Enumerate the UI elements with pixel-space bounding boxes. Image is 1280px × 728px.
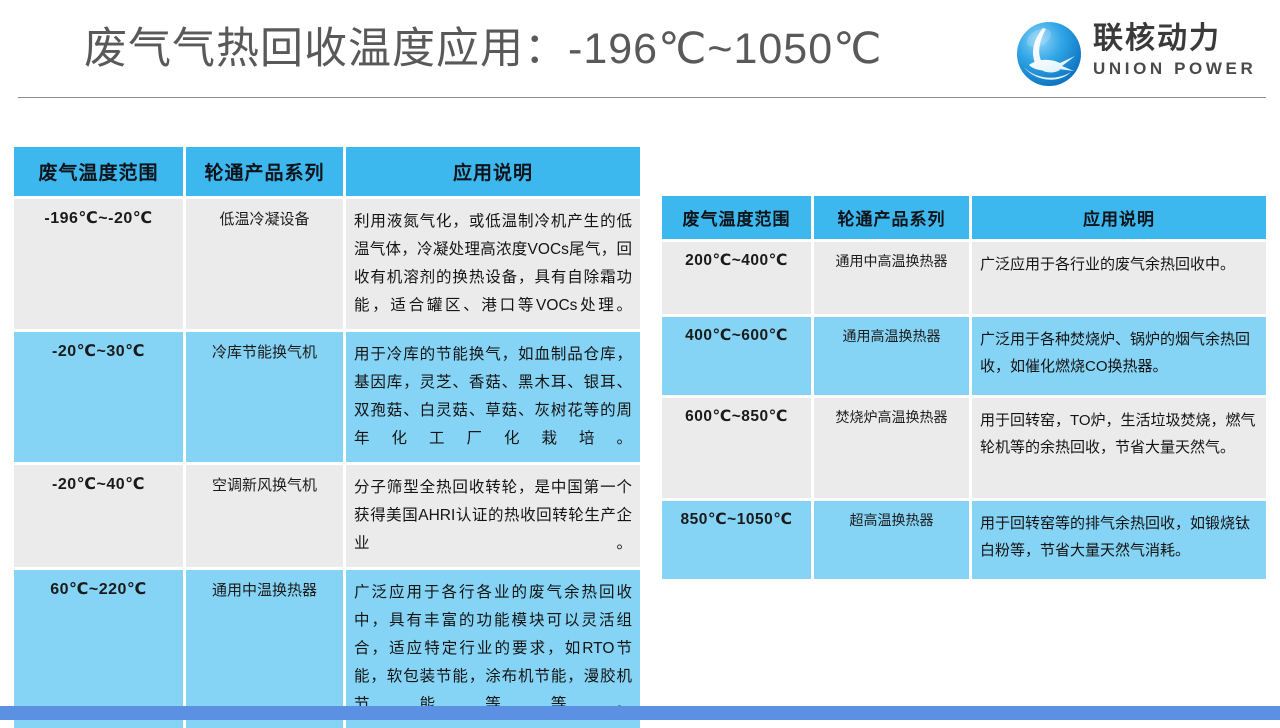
cell-temperature-range: 200℃~400℃: [662, 242, 814, 314]
cell-application-note: 利用液氮气化，或低温制冷机产生的低温气体，冷凝处理高浓度VOCs尾气，回收有机溶…: [346, 199, 640, 329]
column-header-application-note: 应用说明: [972, 196, 1266, 239]
cell-application-note: 广泛用于各种焚烧炉、锅炉的烟气余热回收，如催化燃烧CO换热器。: [972, 317, 1266, 395]
table-row: -196℃~-20℃ 低温冷凝设备 利用液氮气化，或低温制冷机产生的低温气体，冷…: [14, 196, 640, 329]
cell-product-series: 空调新风换气机: [186, 465, 346, 567]
table-row: 200℃~400℃ 通用中高温换热器 广泛应用于各行业的废气余热回收中。: [662, 239, 1266, 314]
temperature-application-table-right: 废气温度范围 轮通产品系列 应用说明 200℃~400℃ 通用中高温换热器 广泛…: [662, 196, 1266, 579]
cell-product-series: 低温冷凝设备: [186, 199, 346, 329]
table-row: -20℃~30℃ 冷库节能换气机 用于冷库的节能换气，如血制品仓库，基因库，灵芝…: [14, 329, 640, 462]
column-header-product-series: 轮通产品系列: [186, 147, 346, 196]
column-header-temperature-range: 废气温度范围: [14, 147, 186, 196]
table-header-row: 废气温度范围 轮通产品系列 应用说明: [14, 147, 640, 196]
cell-temperature-range: 60℃~220℃: [14, 570, 186, 728]
logo-wordmark: 联核动力 UNION POWER: [1093, 20, 1268, 90]
page-title: 废气气热回收温度应用：-196℃~1050℃: [84, 26, 882, 73]
cell-product-series: 冷库节能换气机: [186, 332, 346, 462]
cell-application-note: 用于冷库的节能换气，如血制品仓库，基因库，灵芝、香菇、黑木耳、银耳、双孢菇、白灵…: [346, 332, 640, 462]
cell-temperature-range: -20℃~30℃: [14, 332, 186, 462]
company-logo: 联核动力 UNION POWER: [1013, 18, 1268, 90]
cell-temperature-range: 600℃~850℃: [662, 398, 814, 498]
logo-english-name: UNION POWER: [1093, 58, 1268, 80]
logo-chinese-name: 联核动力: [1093, 20, 1268, 58]
cell-application-note: 分子筛型全热回收转轮，是中国第一个获得美国AHRI认证的热收回转轮生产企业。: [346, 465, 640, 567]
cell-temperature-range: -20℃~40℃: [14, 465, 186, 567]
title-divider: [18, 97, 1266, 98]
table-row: 600℃~850℃ 焚烧炉高温换热器 用于回转窑，TO炉，生活垃圾焚烧，燃气轮机…: [662, 395, 1266, 498]
cell-application-note: 用于回转窑，TO炉，生活垃圾焚烧，燃气轮机等的余热回收，节省大量天然气。: [972, 398, 1266, 498]
table-row: 60℃~220℃ 通用中温换热器 广泛应用于各行各业的废气余热回收中，具有丰富的…: [14, 567, 640, 728]
cell-temperature-range: 400℃~600℃: [662, 317, 814, 395]
table-row: -20℃~40℃ 空调新风换气机 分子筛型全热回收转轮，是中国第一个获得美国AH…: [14, 462, 640, 567]
column-header-application-note: 应用说明: [346, 147, 640, 196]
temperature-application-table-left: 废气温度范围 轮通产品系列 应用说明 -196℃~-20℃ 低温冷凝设备 利用液…: [14, 147, 640, 728]
table-row: 400℃~600℃ 通用高温换热器 广泛用于各种焚烧炉、锅炉的烟气余热回收，如催…: [662, 314, 1266, 395]
cell-temperature-range: 850℃~1050℃: [662, 501, 814, 579]
table-row: 850℃~1050℃ 超高温换热器 用于回转窑等的排气余热回收，如锻烧钛白粉等，…: [662, 498, 1266, 579]
column-header-product-series: 轮通产品系列: [814, 196, 972, 239]
cell-temperature-range: -196℃~-20℃: [14, 199, 186, 329]
column-header-temperature-range: 废气温度范围: [662, 196, 814, 239]
footer-accent-bar: [0, 706, 1280, 720]
slide-header: 废气气热回收温度应用：-196℃~1050℃: [0, 0, 1280, 100]
cell-product-series: 通用中温换热器: [186, 570, 346, 728]
cell-application-note: 广泛应用于各行业的废气余热回收中。: [972, 242, 1266, 314]
cell-product-series: 通用中高温换热器: [814, 242, 972, 314]
cell-product-series: 焚烧炉高温换热器: [814, 398, 972, 498]
table-header-row: 废气温度范围 轮通产品系列 应用说明: [662, 196, 1266, 239]
cell-product-series: 通用高温换热器: [814, 317, 972, 395]
cell-application-note: 用于回转窑等的排气余热回收，如锻烧钛白粉等，节省大量天然气消耗。: [972, 501, 1266, 579]
cell-product-series: 超高温换热器: [814, 501, 972, 579]
cell-application-note: 广泛应用于各行各业的废气余热回收中，具有丰富的功能模块可以灵活组合，适应特定行业…: [346, 570, 640, 728]
union-power-globe-logo-icon: [1013, 18, 1085, 90]
